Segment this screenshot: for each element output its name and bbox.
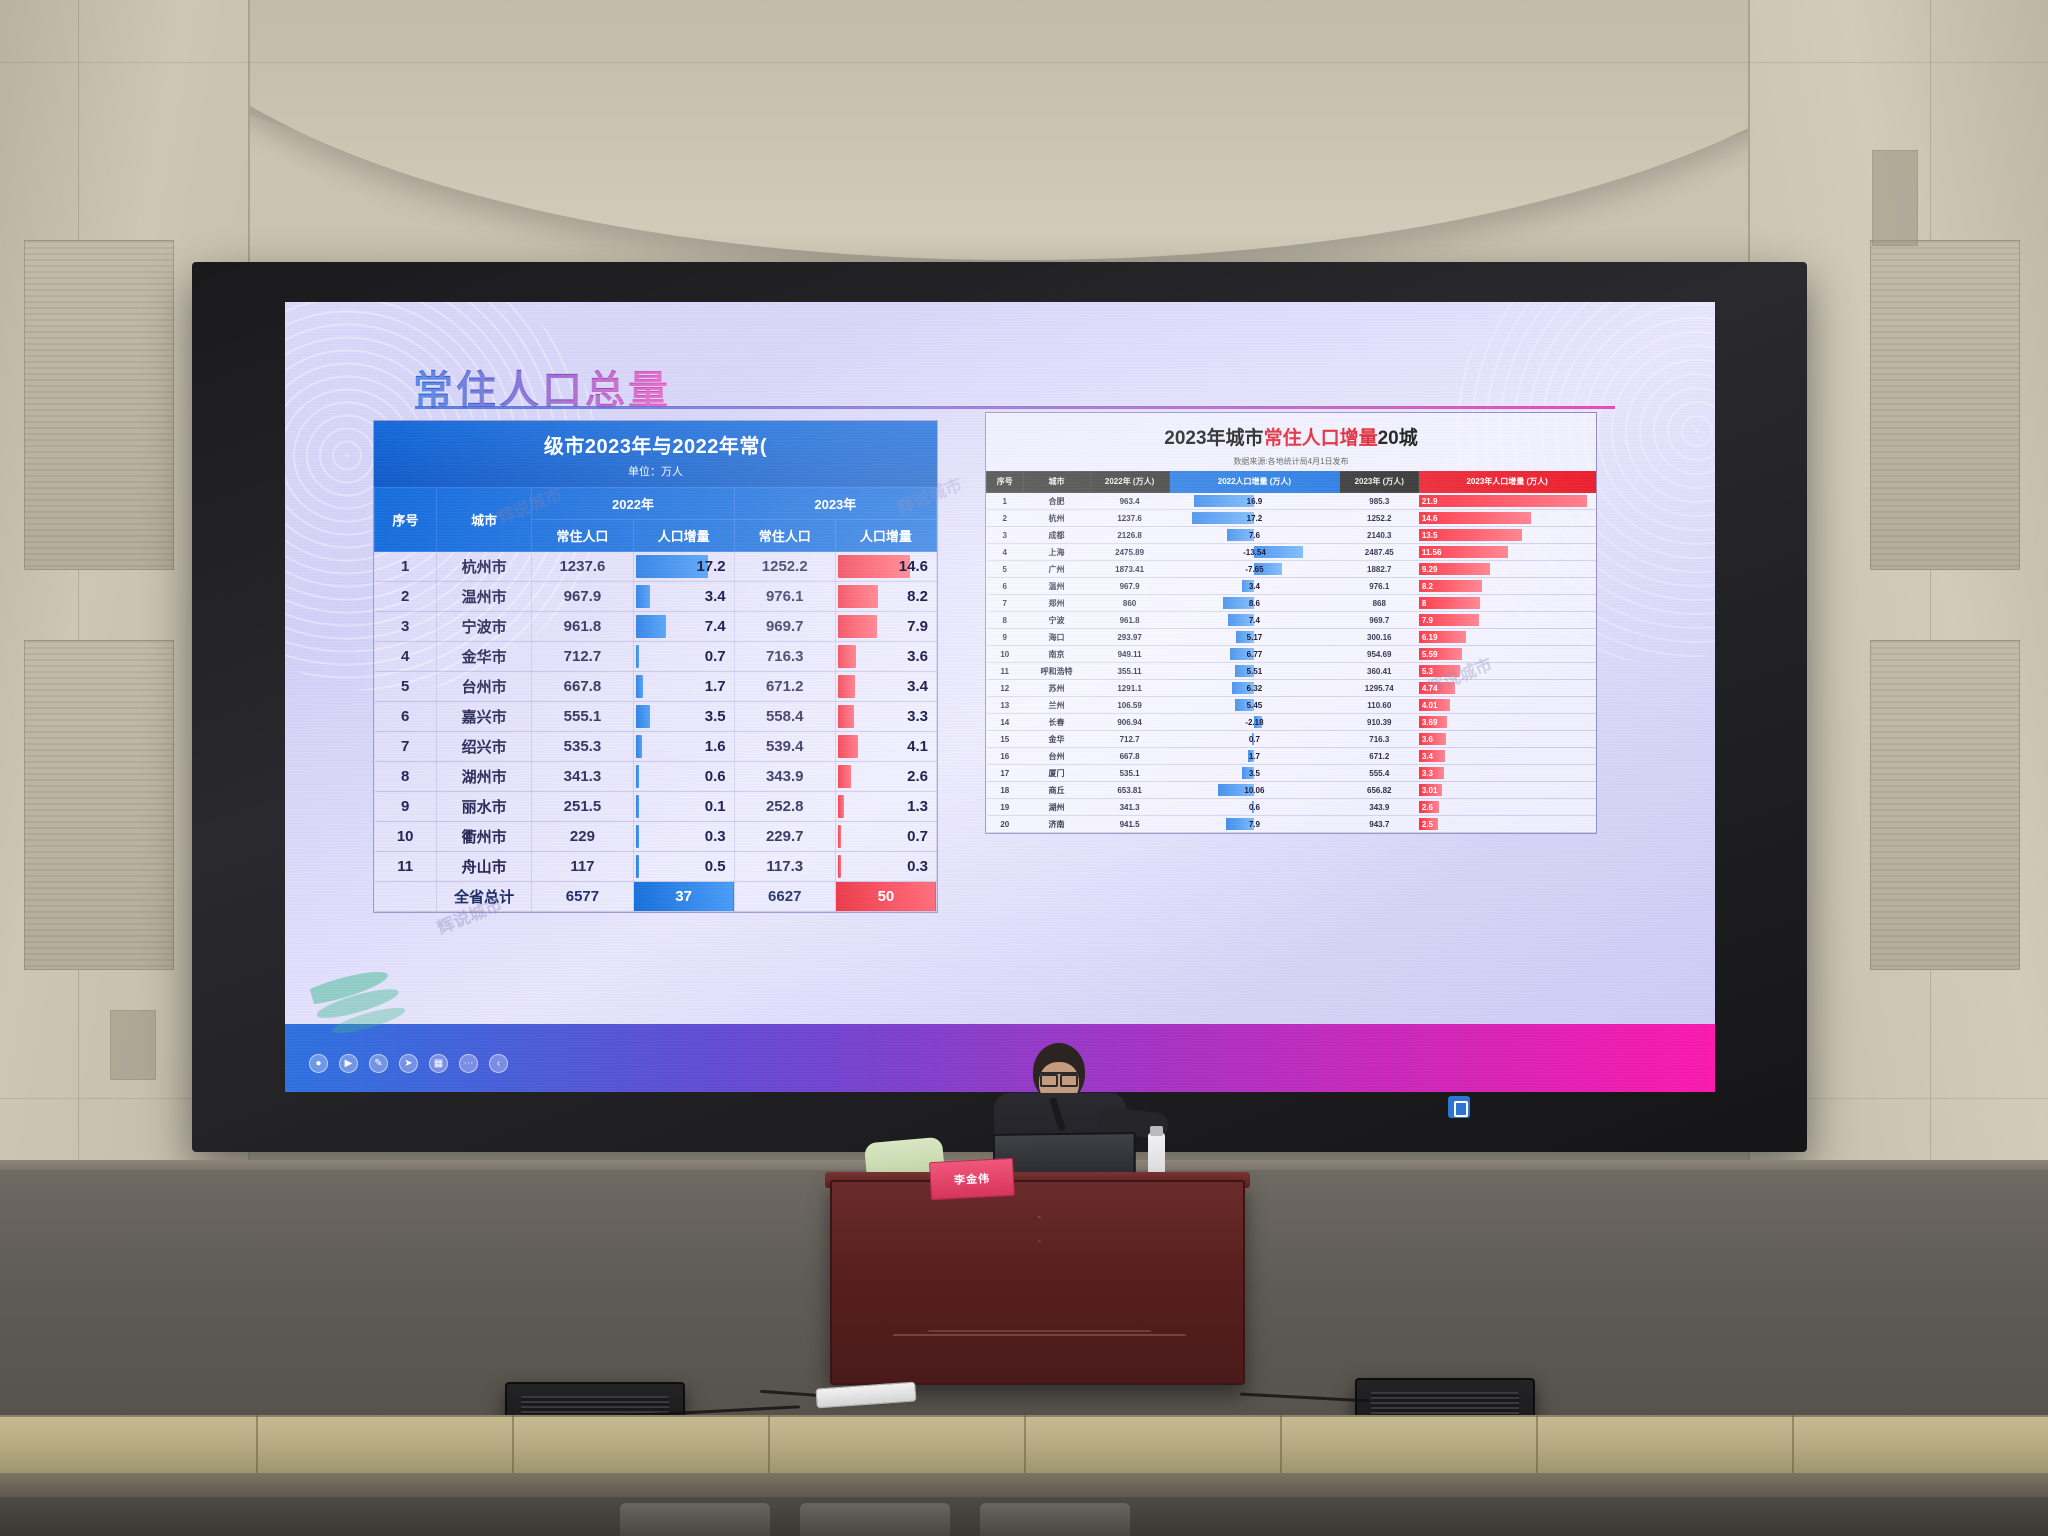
cell-growth-2023: 3.3 xyxy=(835,702,936,732)
cell-city: 杭州 xyxy=(1023,510,1090,527)
th-pop-2023: 常住人口 xyxy=(734,520,835,552)
cell-pop-2023: 1882.7 xyxy=(1340,561,1419,578)
cell-growth-2023: 2.6 xyxy=(835,762,936,792)
cell-pop-2022: 341.3 xyxy=(532,762,633,792)
cell-city: 宁波 xyxy=(1023,612,1090,629)
cell-pop-2022: 251.5 xyxy=(532,792,633,822)
cell-growth-2022: 17.2 xyxy=(633,552,734,582)
cell-growth-2022: 0.5 xyxy=(633,852,734,882)
table-row: 16台州667.81.7671.23.4 xyxy=(987,748,1596,765)
cell-pop-2023: 360.41 xyxy=(1340,663,1419,680)
cell-total-label: 全省总计 xyxy=(436,882,532,912)
wall-seam xyxy=(78,0,79,1180)
cell-growth-2023: 21.9 xyxy=(1419,493,1596,510)
left-table-caption: 级市2023年与2022年常( 单位：万人 xyxy=(374,421,937,487)
table-row: 6嘉兴市555.13.5558.43.3 xyxy=(375,702,937,732)
cell-pop-2022: 117 xyxy=(532,852,633,882)
left-table-caption-text: 级市2023年与2022年常( xyxy=(374,430,937,459)
table-row: 4上海2475.89-13.542487.4511.56 xyxy=(987,544,1596,561)
cell-growth-2022: 1.6 xyxy=(633,732,734,762)
right-title-prefix: 2023年城市 xyxy=(1164,428,1263,449)
cell-pop-2022: 963.4 xyxy=(1090,493,1169,510)
cell-index: 6 xyxy=(375,702,437,732)
cell-city: 海口 xyxy=(1023,629,1090,646)
stage-edge-strip xyxy=(0,1473,2048,1499)
cell-growth-2023: 6.19 xyxy=(1419,629,1596,646)
cell-pop-2022: 712.7 xyxy=(532,642,633,672)
grid-icon[interactable]: ▦ xyxy=(429,1054,448,1073)
table-row: 3成都2126.87.62140.313.5 xyxy=(987,527,1596,544)
cell-city: 成都 xyxy=(1023,527,1090,544)
cell-pop-2022: 667.8 xyxy=(1090,748,1169,765)
cell-index: 4 xyxy=(375,642,437,672)
cell-growth-2023: 13.5 xyxy=(1419,527,1596,544)
cell-growth-2022: 1.7 xyxy=(1169,748,1340,765)
cell-growth-2022: 7.6 xyxy=(1169,527,1340,544)
th-year-2022: 2022年 xyxy=(532,488,734,520)
cell-city: 湖州 xyxy=(1023,799,1090,816)
cell-city: 温州市 xyxy=(436,582,532,612)
table-row: 5广州1873.41-7.651882.79.29 xyxy=(987,561,1596,578)
table-row: 2杭州1237.617.21252.214.6 xyxy=(987,510,1596,527)
cell-growth-2023: 4.1 xyxy=(835,732,936,762)
record-icon[interactable]: ● xyxy=(309,1054,328,1073)
cell-pop-2022: 712.7 xyxy=(1090,731,1169,748)
cell-growth-2023: 3.4 xyxy=(835,672,936,702)
cell-index: 3 xyxy=(375,612,437,642)
cell-city: 温州 xyxy=(1023,578,1090,595)
table-row: 9海口293.975.17300.166.19 xyxy=(987,629,1596,646)
cell-index: 17 xyxy=(987,765,1024,782)
seat-back xyxy=(800,1503,950,1536)
cell-index: 2 xyxy=(987,510,1024,527)
cell-city: 金华市 xyxy=(436,642,532,672)
back-icon[interactable]: ‹ xyxy=(489,1054,508,1073)
cell-growth-2023: 2.5 xyxy=(1419,816,1596,833)
apron-seam xyxy=(1280,1415,1282,1475)
wall-vent xyxy=(1872,150,1918,246)
cell-pop-2022: 1291.1 xyxy=(1090,680,1169,697)
table-row: 8宁波961.87.4969.77.9 xyxy=(987,612,1596,629)
glasses-icon xyxy=(1040,1072,1078,1081)
more-icon[interactable]: ⋯ xyxy=(459,1054,478,1073)
left-table: 序号 城市 2022年 2023年 常住人口 人口增量 常住人口 人口增量 1杭… xyxy=(374,487,937,912)
cell-city: 衢州市 xyxy=(436,822,532,852)
cell-pop-2023: 985.3 xyxy=(1340,493,1419,510)
play-icon[interactable]: ▶ xyxy=(339,1054,358,1073)
cell-growth-2023: 3.6 xyxy=(1419,731,1596,748)
right-title-highlight: 常住人口增量 xyxy=(1264,428,1378,449)
cell-city: 金华 xyxy=(1023,731,1090,748)
rt-th-2022: 2022年 (万人) xyxy=(1090,472,1169,493)
cell-index: 5 xyxy=(375,672,437,702)
cell-city: 舟山市 xyxy=(436,852,532,882)
left-table-unit: 单位：万人 xyxy=(374,463,937,479)
cell-index: 1 xyxy=(987,493,1024,510)
cell-growth-2023: 8 xyxy=(1419,595,1596,612)
cell-index: 9 xyxy=(987,629,1024,646)
cell-pop-2022: 1237.6 xyxy=(532,552,633,582)
th-pop-2022: 常住人口 xyxy=(532,520,633,552)
nameplate: 李金伟 xyxy=(929,1158,1015,1200)
cell-index: 11 xyxy=(987,663,1024,680)
table-row: 2温州市967.93.4976.18.2 xyxy=(375,582,937,612)
cell-growth-2022: 6.77 xyxy=(1169,646,1340,663)
seat-back xyxy=(980,1503,1130,1536)
cell-city: 台州市 xyxy=(436,672,532,702)
cell-growth-2022: 8.6 xyxy=(1169,595,1340,612)
cell-city: 宁波市 xyxy=(436,612,532,642)
cell-pop-2023: 671.2 xyxy=(1340,748,1419,765)
cell-pop-2023: 110.60 xyxy=(1340,697,1419,714)
auditorium-scene: 常住人口总量 级市2023年与2022年常( 单位：万人 序号 xyxy=(0,0,2048,1536)
cell-pop-2023: 343.9 xyxy=(734,762,835,792)
cell-city: 济南 xyxy=(1023,816,1090,833)
cell-pop-2023: 716.3 xyxy=(734,642,835,672)
cell-growth-2022: 0.7 xyxy=(1169,731,1340,748)
cell-pop-2023: 252.8 xyxy=(734,792,835,822)
cell-growth-2023: 4.01 xyxy=(1419,697,1596,714)
cell-city: 商丘 xyxy=(1023,782,1090,799)
th-growth-2022: 人口增量 xyxy=(633,520,734,552)
cell-growth-2023: 5.3 xyxy=(1419,663,1596,680)
cell-pop-2023: 976.1 xyxy=(1340,578,1419,595)
cell-growth-2023: 7.9 xyxy=(1419,612,1596,629)
bottle-cap xyxy=(1150,1126,1163,1136)
cell-growth-2022: 3.4 xyxy=(1169,578,1340,595)
cell-growth-2022: 0.1 xyxy=(633,792,734,822)
cell-growth-2023: 8.2 xyxy=(835,582,936,612)
led-logo-icon xyxy=(1448,1096,1470,1118)
cell-pop-2022: 106.59 xyxy=(1090,697,1169,714)
apron-seam xyxy=(768,1415,770,1475)
cell-city: 台州 xyxy=(1023,748,1090,765)
wall-speaker-right-2 xyxy=(1870,640,2020,970)
left-table-panel: 级市2023年与2022年常( 单位：万人 序号 城市 2022年 xyxy=(373,420,938,913)
cell-growth-2022: 17.2 xyxy=(1169,510,1340,527)
cell-city: 长春 xyxy=(1023,714,1090,731)
rt-th-2023: 2023年 (万人) xyxy=(1340,472,1419,493)
cell-index: 14 xyxy=(987,714,1024,731)
table-row: 3宁波市961.87.4969.77.9 xyxy=(375,612,937,642)
cell-pop-2023: 2140.3 xyxy=(1340,527,1419,544)
title-underline xyxy=(415,406,1615,409)
cell-growth-2022: 7.9 xyxy=(1169,816,1340,833)
cell-index: 18 xyxy=(987,782,1024,799)
cell-pop-2022: 906.94 xyxy=(1090,714,1169,731)
cell-city: 广州 xyxy=(1023,561,1090,578)
cell-pop-2022: 293.97 xyxy=(1090,629,1169,646)
cell-index: 10 xyxy=(987,646,1024,663)
table-row: 15金华712.70.7716.33.6 xyxy=(987,731,1596,748)
cell-pop-2022: 1873.41 xyxy=(1090,561,1169,578)
wall-speaker-left xyxy=(24,240,174,570)
cell-index: 9 xyxy=(375,792,437,822)
cell-index: 11 xyxy=(375,852,437,882)
table-row: 18商丘653.8110.06656.823.01 xyxy=(987,782,1596,799)
right-table-title: 2023年城市常住人口增量20城 xyxy=(986,413,1596,456)
cell-index: 8 xyxy=(375,762,437,792)
cell-pop-2023: 1295.74 xyxy=(1340,680,1419,697)
cell-pop-2023: 343.9 xyxy=(1340,799,1419,816)
rt-th-growth-2023: 2023年人口增量 (万人) xyxy=(1419,472,1596,493)
cell-index: 1 xyxy=(375,552,437,582)
cell-growth-2023: 14.6 xyxy=(1419,510,1596,527)
table-row: 8湖州市341.30.6343.92.6 xyxy=(375,762,937,792)
cell-pop-2022: 967.9 xyxy=(532,582,633,612)
right-table: 序号 城市 2022年 (万人) 2022人口增量 (万人) 2023年 (万人… xyxy=(986,471,1596,833)
cell-index: 7 xyxy=(987,595,1024,612)
wall-seam xyxy=(1930,0,1931,1180)
cell-index: 3 xyxy=(987,527,1024,544)
cell-pop-2023: 300.16 xyxy=(1340,629,1419,646)
cell-pop-2022: 961.8 xyxy=(1090,612,1169,629)
cell-growth-2022: -7.65 xyxy=(1169,561,1340,578)
seat-back xyxy=(620,1503,770,1536)
rt-th-index: 序号 xyxy=(987,472,1024,493)
cell-growth-2022: 0.3 xyxy=(633,822,734,852)
table-row: 9丽水市251.50.1252.81.3 xyxy=(375,792,937,822)
cell-growth-2022: 0.6 xyxy=(1169,799,1340,816)
pointer-icon[interactable]: ➤ xyxy=(399,1054,418,1073)
cell-growth-2023: 4.74 xyxy=(1419,680,1596,697)
cell-pop-2023: 2487.45 xyxy=(1340,544,1419,561)
apron-seam xyxy=(1024,1415,1026,1475)
table-total-row: 全省总计657737662750 xyxy=(375,882,937,912)
cell-growth-2023: 2.6 xyxy=(1419,799,1596,816)
table-row: 14长春906.94-2.18910.393.69 xyxy=(987,714,1596,731)
cell-pop-2022: 555.1 xyxy=(532,702,633,732)
cell-total-growth-2022: 37 xyxy=(633,882,734,912)
cell-index: 12 xyxy=(987,680,1024,697)
right-title-suffix: 20城 xyxy=(1378,428,1418,449)
cell-pop-2023: 558.4 xyxy=(734,702,835,732)
apron-seam xyxy=(1536,1415,1538,1475)
cell-index: 16 xyxy=(987,748,1024,765)
cell-pop-2022: 355.11 xyxy=(1090,663,1169,680)
wall-speaker-right xyxy=(1870,240,2020,570)
cell-growth-2023: 3.3 xyxy=(1419,765,1596,782)
cell-growth-2023: 0.7 xyxy=(835,822,936,852)
cell-growth-2022: 0.6 xyxy=(633,762,734,792)
table-row: 6温州967.93.4976.18.2 xyxy=(987,578,1596,595)
cell-index: 5 xyxy=(987,561,1024,578)
cell-growth-2022: 3.5 xyxy=(1169,765,1340,782)
table-row: 7郑州8608.68688 xyxy=(987,595,1596,612)
th-index: 序号 xyxy=(375,488,437,552)
cell-pop-2022: 2475.89 xyxy=(1090,544,1169,561)
table-row: 7绍兴市535.31.6539.44.1 xyxy=(375,732,937,762)
cell-growth-2023: 5.59 xyxy=(1419,646,1596,663)
apron-seam xyxy=(512,1415,514,1475)
rt-th-growth-2022: 2022人口增量 (万人) xyxy=(1169,472,1340,493)
cell-pop-2023: 976.1 xyxy=(734,582,835,612)
table-row: 10衢州市2290.3229.70.7 xyxy=(375,822,937,852)
cell-pop-2022: 535.3 xyxy=(532,732,633,762)
cell-growth-2022: 5.17 xyxy=(1169,629,1340,646)
cell-index: 13 xyxy=(987,697,1024,714)
cell-growth-2022: -2.18 xyxy=(1169,714,1340,731)
cell-city: 绍兴市 xyxy=(436,732,532,762)
cell-pop-2023: 868 xyxy=(1340,595,1419,612)
cell-index: 7 xyxy=(375,732,437,762)
table-row: 5台州市667.81.7671.23.4 xyxy=(375,672,937,702)
table-row: 13兰州106.595.45110.604.01 xyxy=(987,697,1596,714)
cell-pop-2023: 716.3 xyxy=(1340,731,1419,748)
cell-growth-2022: 10.06 xyxy=(1169,782,1340,799)
cell-growth-2022: 3.4 xyxy=(633,582,734,612)
cell-pop-2022: 1237.6 xyxy=(1090,510,1169,527)
cell-city: 湖州市 xyxy=(436,762,532,792)
cell-growth-2023: 14.6 xyxy=(835,552,936,582)
cell-growth-2023: 3.01 xyxy=(1419,782,1596,799)
table-row: 19湖州341.30.6343.92.6 xyxy=(987,799,1596,816)
left-table-header-group: 序号 城市 2022年 2023年 xyxy=(375,488,937,520)
cell-growth-2023: 11.56 xyxy=(1419,544,1596,561)
apron-seam xyxy=(1792,1415,1794,1475)
cell-pop-2023: 954.69 xyxy=(1340,646,1419,663)
table-row: 11呼和浩特355.115.51360.415.3 xyxy=(987,663,1596,680)
right-table-panel: 2023年城市常住人口增量20城 数据来源:各地统计局4月1日发布 序号 城市 … xyxy=(985,412,1597,834)
cell-pop-2023: 1252.2 xyxy=(1340,510,1419,527)
cell-index: 6 xyxy=(987,578,1024,595)
cell-growth-2022: 16.9 xyxy=(1169,493,1340,510)
cell-pop-2023: 910.39 xyxy=(1340,714,1419,731)
cell-pop-2022: 961.8 xyxy=(532,612,633,642)
th-city: 城市 xyxy=(436,488,532,552)
cell-index: 8 xyxy=(987,612,1024,629)
cell-pop-2023: 671.2 xyxy=(734,672,835,702)
cell-growth-2022: 3.5 xyxy=(633,702,734,732)
cell-pop-2022: 967.9 xyxy=(1090,578,1169,595)
cell-total-pop-2023: 6627 xyxy=(734,882,835,912)
cell-growth-2023: 3.6 xyxy=(835,642,936,672)
wall-line xyxy=(0,62,2048,63)
cell-city: 嘉兴市 xyxy=(436,702,532,732)
cell-growth-2023: 0.3 xyxy=(835,852,936,882)
cell-city: 合肥 xyxy=(1023,493,1090,510)
cell-growth-2023: 1.3 xyxy=(835,792,936,822)
cell-pop-2023: 943.7 xyxy=(1340,816,1419,833)
cell-growth-2022: 1.7 xyxy=(633,672,734,702)
cell-pop-2022: 860 xyxy=(1090,595,1169,612)
podium xyxy=(830,1180,1245,1385)
table-row: 17厦门535.13.5555.43.3 xyxy=(987,765,1596,782)
cell-index: 10 xyxy=(375,822,437,852)
cell-city: 兰州 xyxy=(1023,697,1090,714)
pen-icon[interactable]: ✎ xyxy=(369,1054,388,1073)
cell-pop-2023: 1252.2 xyxy=(734,552,835,582)
cell-city: 厦门 xyxy=(1023,765,1090,782)
cell-growth-2022: 7.4 xyxy=(1169,612,1340,629)
wall-speaker-left-2 xyxy=(24,640,174,970)
cell-growth-2023: 3.4 xyxy=(1419,748,1596,765)
cell-pop-2022: 941.5 xyxy=(1090,816,1169,833)
cell-growth-2022: 5.45 xyxy=(1169,697,1340,714)
cell-pop-2022: 229 xyxy=(532,822,633,852)
cell-index: 20 xyxy=(987,816,1024,833)
cell-city: 南京 xyxy=(1023,646,1090,663)
cell-total-growth-2023: 50 xyxy=(835,882,936,912)
rt-th-city: 城市 xyxy=(1023,472,1090,493)
cell-pop-2023: 555.4 xyxy=(1340,765,1419,782)
cell-pop-2022: 667.8 xyxy=(532,672,633,702)
table-row: 20济南941.57.9943.72.5 xyxy=(987,816,1596,833)
cell-pop-2023: 229.7 xyxy=(734,822,835,852)
cell-pop-2023: 969.7 xyxy=(734,612,835,642)
table-row: 11舟山市1170.5117.30.3 xyxy=(375,852,937,882)
wall-vent-low xyxy=(110,1010,156,1080)
led-screen[interactable]: 常住人口总量 级市2023年与2022年常( 单位：万人 序号 xyxy=(285,302,1715,1092)
cell-pop-2022: 341.3 xyxy=(1090,799,1169,816)
cell-pop-2022: 535.1 xyxy=(1090,765,1169,782)
cell-pop-2022: 949.11 xyxy=(1090,646,1169,663)
cell-total-pop-2022: 6577 xyxy=(532,882,633,912)
table-row: 4金华市712.70.7716.33.6 xyxy=(375,642,937,672)
cell-city: 杭州市 xyxy=(436,552,532,582)
cell-city: 呼和浩特 xyxy=(1023,663,1090,680)
cell-index: 4 xyxy=(987,544,1024,561)
cell-city: 丽水市 xyxy=(436,792,532,822)
cell-pop-2023: 539.4 xyxy=(734,732,835,762)
cell-pop-2022: 653.81 xyxy=(1090,782,1169,799)
cell-city: 郑州 xyxy=(1023,595,1090,612)
right-table-header: 序号 城市 2022年 (万人) 2022人口增量 (万人) 2023年 (万人… xyxy=(987,472,1596,493)
cell-city: 苏州 xyxy=(1023,680,1090,697)
cell-pop-2022: 2126.8 xyxy=(1090,527,1169,544)
cell-growth-2022: -13.54 xyxy=(1169,544,1340,561)
cell-pop-2023: 117.3 xyxy=(734,852,835,882)
cell-growth-2022: 6.32 xyxy=(1169,680,1340,697)
cell-growth-2023: 3.69 xyxy=(1419,714,1596,731)
th-year-2023: 2023年 xyxy=(734,488,936,520)
presentation-slide[interactable]: 常住人口总量 级市2023年与2022年常( 单位：万人 序号 xyxy=(285,302,1715,1092)
cell-growth-2023: 8.2 xyxy=(1419,578,1596,595)
right-table-body: 1合肥963.416.9985.321.92杭州1237.617.21252.2… xyxy=(987,493,1596,833)
cell-growth-2023: 7.9 xyxy=(835,612,936,642)
left-table-body: 1杭州市1237.617.21252.214.62温州市967.93.4976.… xyxy=(375,552,937,912)
table-row: 10南京949.116.77954.695.59 xyxy=(987,646,1596,663)
th-growth-2023: 人口增量 xyxy=(835,520,936,552)
cell-index: 2 xyxy=(375,582,437,612)
cell-pop-2023: 969.7 xyxy=(1340,612,1419,629)
right-table-note: 数据来源:各地统计局4月1日发布 xyxy=(986,456,1596,471)
table-row: 1杭州市1237.617.21252.214.6 xyxy=(375,552,937,582)
cell-growth-2022: 5.51 xyxy=(1169,663,1340,680)
cell-growth-2022: 0.7 xyxy=(633,642,734,672)
cell-index: 19 xyxy=(987,799,1024,816)
table-row: 12苏州1291.16.321295.744.74 xyxy=(987,680,1596,697)
cell-growth-2023: 9.29 xyxy=(1419,561,1596,578)
cell-pop-2023: 656.82 xyxy=(1340,782,1419,799)
apron-seam xyxy=(256,1415,258,1475)
table-row: 1合肥963.416.9985.321.9 xyxy=(987,493,1596,510)
slide-toolbar[interactable]: ●▶✎➤▦⋯‹ xyxy=(309,1050,508,1076)
cell-index: 15 xyxy=(987,731,1024,748)
cell-growth-2022: 7.4 xyxy=(633,612,734,642)
cell-city: 上海 xyxy=(1023,544,1090,561)
